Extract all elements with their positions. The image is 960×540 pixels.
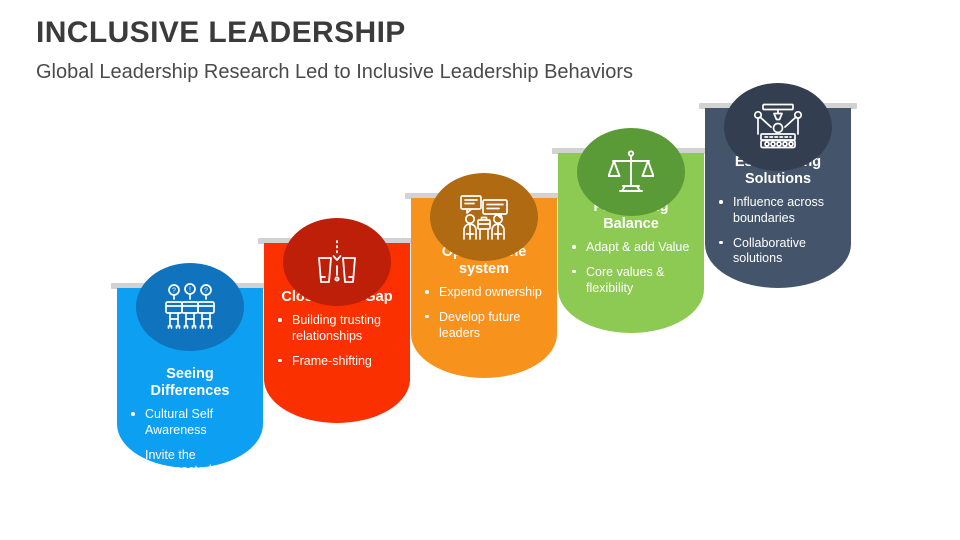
bullet-dot-icon <box>131 412 135 416</box>
process-diagram: Seeing DifferencesCultural Self Awarenes… <box>0 0 960 540</box>
card-bullet-list: Cultural Self AwarenessInvite the Unexpe… <box>123 407 257 479</box>
card-bullet-item: Expend ownership <box>417 285 551 301</box>
card-bullet-text: Expend ownership <box>439 285 542 299</box>
card-icon-badge: ? ! ? <box>136 263 244 351</box>
card-bullet-item: Frame-shifting <box>270 354 404 370</box>
card-bullet-list: Building trusting relationshipsFrame-shi… <box>270 313 404 369</box>
card-bullet-item: Invite the Unexpected <box>123 448 257 480</box>
card-bullet-text: Adapt & add Value <box>586 240 689 254</box>
bullet-dot-icon <box>425 315 429 319</box>
bullet-dot-icon <box>425 290 429 294</box>
card-icon-badge <box>283 218 391 306</box>
card-bullet-item: Building trusting relationships <box>270 313 404 345</box>
bullet-dot-icon <box>572 245 576 249</box>
card-bullet-item: Influence across boundaries <box>711 195 845 227</box>
people-speech-briefcase-icon <box>458 193 510 241</box>
bullet-dot-icon <box>572 270 576 274</box>
card-bullet-item: Adapt & add Value <box>564 240 698 256</box>
card-icon-badge <box>724 83 832 171</box>
card-bullet-item: Core values & flexibility <box>564 265 698 297</box>
card-heading: Seeing Differences <box>123 366 257 400</box>
card-icon-badge <box>430 173 538 261</box>
card-content: Seeing DifferencesCultural Self Awarenes… <box>117 366 263 479</box>
bullet-dot-icon <box>131 453 135 457</box>
card-bullet-list: Influence across boundariesCollaborative… <box>711 195 845 267</box>
card-bullet-text: Core values & flexibility <box>586 265 665 295</box>
card-bullet-item: Develop future leaders <box>417 310 551 342</box>
card-bullet-text: Cultural Self Awareness <box>145 407 213 437</box>
card-bullet-list: Adapt & add ValueCore values & flexibili… <box>564 240 698 296</box>
card-bullet-text: Influence across boundaries <box>733 195 824 225</box>
bullet-dot-icon <box>278 318 282 322</box>
card-bullet-item: Collaborative solutions <box>711 236 845 268</box>
balance-scale-icon <box>608 149 654 195</box>
card-bullet-text: Develop future leaders <box>439 310 520 340</box>
gap-cliff-icon <box>312 238 362 286</box>
three-people-question-icon: ? ! ? <box>162 283 218 331</box>
svg-text:?: ? <box>172 288 176 295</box>
card-bullet-text: Collaborative solutions <box>733 236 806 266</box>
assembly-machine-icon <box>751 103 805 151</box>
card-bullet-text: Building trusting relationships <box>292 313 381 343</box>
card-bullet-text: Invite the Unexpected <box>145 448 212 478</box>
bullet-dot-icon <box>719 200 723 204</box>
svg-text:?: ? <box>204 288 208 295</box>
card-bullet-text: Frame-shifting <box>292 354 372 368</box>
card-bullet-item: Cultural Self Awareness <box>123 407 257 439</box>
card-bullet-list: Expend ownershipDevelop future leaders <box>417 285 551 341</box>
svg-text:!: ! <box>189 287 191 294</box>
bullet-dot-icon <box>719 241 723 245</box>
card-icon-badge <box>577 128 685 216</box>
bullet-dot-icon <box>278 359 282 363</box>
